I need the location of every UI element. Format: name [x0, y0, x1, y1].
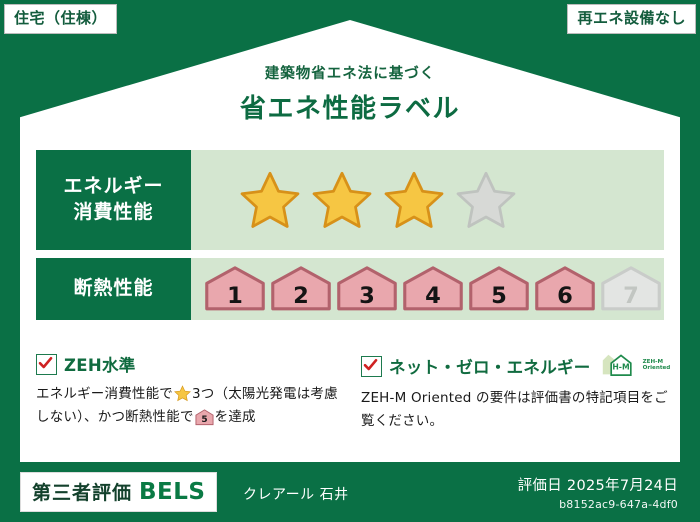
star-filled-icon	[311, 170, 373, 230]
check-block-nze: ネット・ゼロ・エネルギー H-M ZEH-M Oriented ZEH-M Or…	[361, 352, 672, 432]
check-header-nze: ネット・ゼロ・エネルギー H-M ZEH-M Oriented	[361, 352, 672, 380]
check-body-zeh-part1: エネルギー消費性能で	[36, 386, 173, 402]
check-header-zeh: ZEH水準	[36, 352, 347, 376]
svg-text:7: 7	[623, 283, 639, 309]
label-footer: 第三者評価 BELS クレアール 石井 評価日 2025年7月24日 b8152…	[0, 462, 700, 522]
svg-text:6: 6	[557, 283, 573, 309]
svg-text:5: 5	[491, 283, 507, 309]
grade-house-active: 4	[401, 265, 465, 313]
star-filled-icon	[239, 170, 301, 230]
footer-meta: 評価日 2025年7月24日 b8152ac9-647a-4df0	[518, 474, 678, 511]
svg-text:3: 3	[359, 283, 375, 309]
bels-en-label: BELS	[139, 479, 205, 505]
heading-subtitle: 建築物省エネ法に基づく	[0, 62, 700, 83]
builder-name: クレアール 石井	[243, 484, 349, 504]
row-insulation-value: 1234567	[191, 258, 664, 320]
grade-house-active: 1	[203, 265, 267, 313]
check-body-zeh-part3: を達成	[215, 409, 256, 425]
inline-house-grade-icon: 5	[195, 409, 214, 426]
row-insulation: 断熱性能 1234567	[36, 258, 664, 320]
zeh-m-oriented-logo: H-M ZEH-M Oriented	[600, 352, 671, 380]
bels-jp-label: 第三者評価	[32, 478, 132, 505]
check-title-nze: ネット・ゼロ・エネルギー	[389, 354, 591, 378]
check-block-zeh: ZEH水準 エネルギー消費性能で3つ（太陽光発電は考慮しない）、かつ断熱性能で5…	[36, 352, 347, 432]
check-body-zeh: エネルギー消費性能で3つ（太陽光発電は考慮しない）、かつ断熱性能で5を達成	[36, 383, 347, 428]
star-filled-icon	[383, 170, 445, 230]
svg-text:H-M: H-M	[612, 363, 629, 372]
star-empty-icon	[455, 170, 517, 230]
evaluation-id: b8152ac9-647a-4df0	[518, 498, 678, 511]
evaluation-date: 評価日 2025年7月24日	[518, 474, 678, 495]
svg-text:1: 1	[227, 283, 243, 309]
energy-label-root: 住宅（住棟） 再エネ設備なし 建築物省エネ法に基づく 省エネ性能ラベル エネルギ…	[0, 0, 700, 522]
heading-title: 省エネ性能ラベル	[0, 88, 700, 125]
check-title-zeh: ZEH水準	[64, 352, 136, 376]
row-insulation-label: 断熱性能	[36, 258, 191, 320]
check-body-nze: ZEH-M Oriented の要件は評価書の特記項目をご覧ください。	[361, 387, 672, 432]
svg-text:5: 5	[201, 415, 207, 425]
label-heading: 建築物省エネ法に基づく 省エネ性能ラベル	[0, 62, 700, 125]
check-icon	[361, 356, 382, 377]
grade-house-active: 3	[335, 265, 399, 313]
check-icon	[36, 354, 57, 375]
row-energy-label: エネルギー 消費性能	[36, 150, 191, 250]
tag-building-type: 住宅（住棟）	[4, 4, 117, 34]
row-energy-consumption: エネルギー 消費性能	[36, 150, 664, 250]
row-energy-value	[191, 150, 664, 250]
bels-badge: 第三者評価 BELS	[20, 472, 217, 512]
performance-rows: エネルギー 消費性能 断熱性能 1234567	[36, 150, 664, 328]
star-rating	[191, 170, 517, 230]
grade-house-active: 6	[533, 265, 597, 313]
svg-text:4: 4	[425, 283, 441, 309]
tag-renewable-equipment: 再エネ設備なし	[567, 4, 696, 34]
grade-house-active: 2	[269, 265, 333, 313]
svg-text:2: 2	[293, 283, 309, 309]
zeh-m-caption-line2: Oriented	[643, 366, 671, 372]
insulation-grade-scale: 1234567	[191, 265, 663, 313]
grade-house-inactive: 7	[599, 265, 663, 313]
grade-house-active: 5	[467, 265, 531, 313]
inline-star-icon	[174, 385, 191, 402]
check-blocks: ZEH水準 エネルギー消費性能で3つ（太陽光発電は考慮しない）、かつ断熱性能で5…	[36, 352, 672, 432]
row-energy-label-line1: エネルギー	[63, 175, 163, 197]
row-energy-label-line2: 消費性能	[73, 201, 153, 223]
